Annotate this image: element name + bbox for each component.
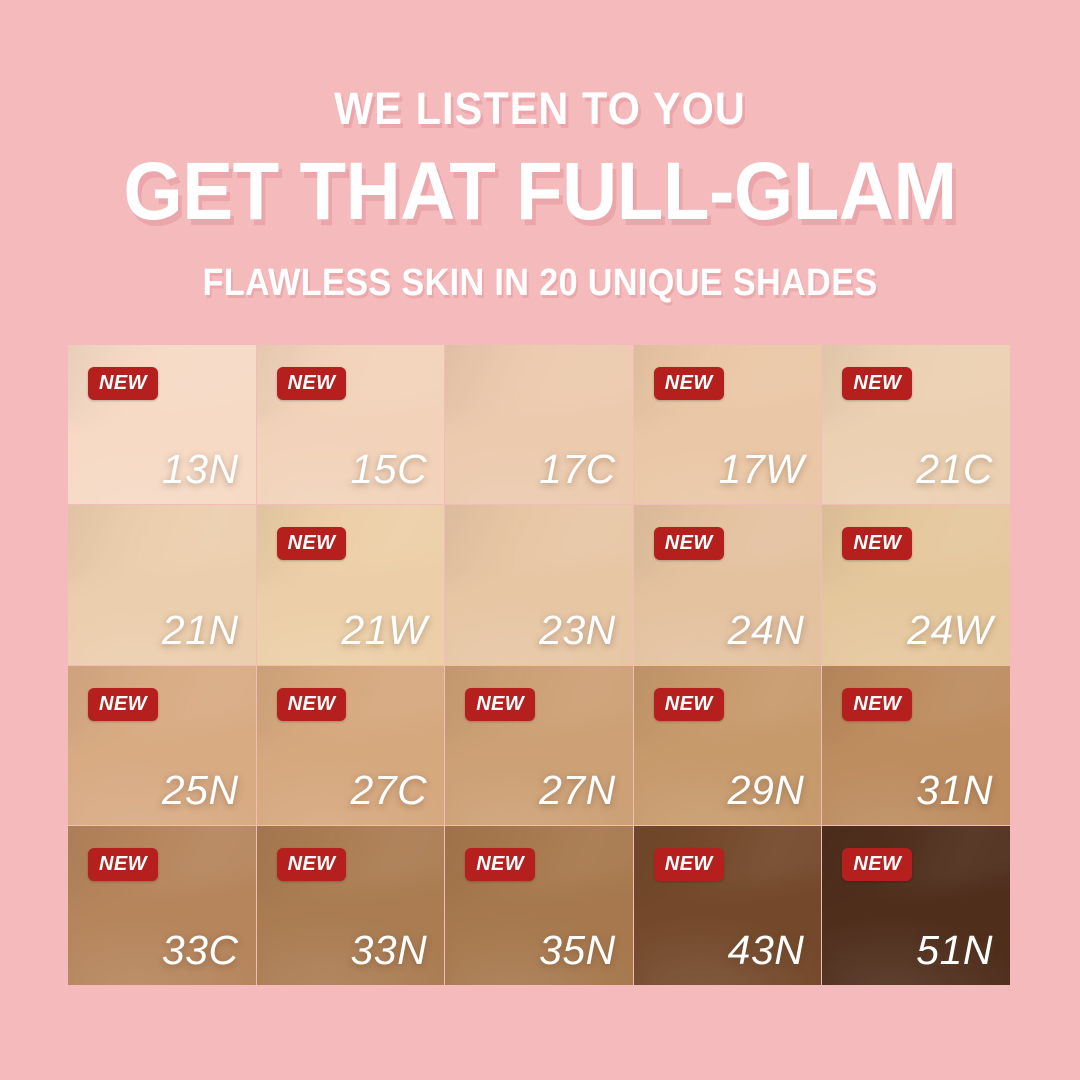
shade-name-label: 13N [162,449,239,490]
shade-swatch[interactable]: NEW21C [822,345,1010,504]
new-badge: NEW [465,848,535,881]
new-badge: NEW [88,688,158,721]
new-badge: NEW [842,688,912,721]
shade-name-label: 27C [350,770,427,811]
heading-block: WE LISTEN TO YOU GET THAT FULL-GLAM FLAW… [0,86,1080,302]
shade-name-label: 23N [539,610,616,651]
shade-name-label: 25N [162,770,239,811]
shade-swatch-grid: NEW13NNEW15CNEW17CNEW17WNEW21CNEW21NNEW2… [68,345,1010,985]
new-badge: NEW [842,367,912,400]
shade-swatch[interactable]: NEW35N [445,826,633,985]
shade-name-label: 21N [162,610,239,651]
shade-name-label: 33C [162,930,239,971]
new-badge: NEW [465,688,535,721]
shade-swatch[interactable]: NEW27C [257,666,445,825]
new-badge: NEW [277,688,347,721]
shade-swatch[interactable]: NEW33N [257,826,445,985]
shade-swatch[interactable]: NEW33C [68,826,256,985]
page-title: GET THAT FULL-GLAM [38,151,1042,233]
new-badge: NEW [88,367,158,400]
new-badge: NEW [654,527,724,560]
shade-name-label: 15C [350,449,427,490]
shade-name-label: 31N [916,770,993,811]
shade-name-label: 24W [907,610,993,651]
eyebrow-text: WE LISTEN TO YOU [43,86,1037,131]
new-badge: NEW [654,367,724,400]
shade-swatch[interactable]: NEW23N [445,505,633,664]
shade-range-poster: WE LISTEN TO YOU GET THAT FULL-GLAM FLAW… [0,0,1080,1080]
shade-swatch[interactable]: NEW25N [68,666,256,825]
new-badge: NEW [277,848,347,881]
new-badge: NEW [654,848,724,881]
shade-name-label: 27N [539,770,616,811]
subheading-text: FLAWLESS SKIN IN 20 UNIQUE SHADES [54,264,1026,302]
shade-name-label: 29N [728,770,805,811]
new-badge: NEW [654,688,724,721]
new-badge: NEW [277,527,347,560]
shade-name-label: 51N [916,930,993,971]
new-badge: NEW [842,527,912,560]
shade-swatch[interactable]: NEW24N [634,505,822,664]
shade-swatch[interactable]: NEW21W [257,505,445,664]
shade-swatch[interactable]: NEW31N [822,666,1010,825]
shade-name-label: 17C [539,449,616,490]
shade-swatch[interactable]: NEW27N [445,666,633,825]
shade-name-label: 24N [728,610,805,651]
shade-swatch[interactable]: NEW13N [68,345,256,504]
shade-name-label: 35N [539,930,616,971]
shade-name-label: 33N [350,930,427,971]
shade-swatch[interactable]: NEW17C [445,345,633,504]
shade-name-label: 21W [341,610,427,651]
shade-name-label: 17W [719,449,805,490]
shade-name-label: 21C [916,449,993,490]
shade-swatch[interactable]: NEW15C [257,345,445,504]
shade-swatch[interactable]: NEW21N [68,505,256,664]
shade-name-label: 43N [728,930,805,971]
new-badge: NEW [88,848,158,881]
new-badge: NEW [842,848,912,881]
new-badge: NEW [277,367,347,400]
shade-swatch[interactable]: NEW17W [634,345,822,504]
shade-swatch[interactable]: NEW51N [822,826,1010,985]
shade-swatch[interactable]: NEW24W [822,505,1010,664]
shade-swatch[interactable]: NEW29N [634,666,822,825]
shade-swatch[interactable]: NEW43N [634,826,822,985]
